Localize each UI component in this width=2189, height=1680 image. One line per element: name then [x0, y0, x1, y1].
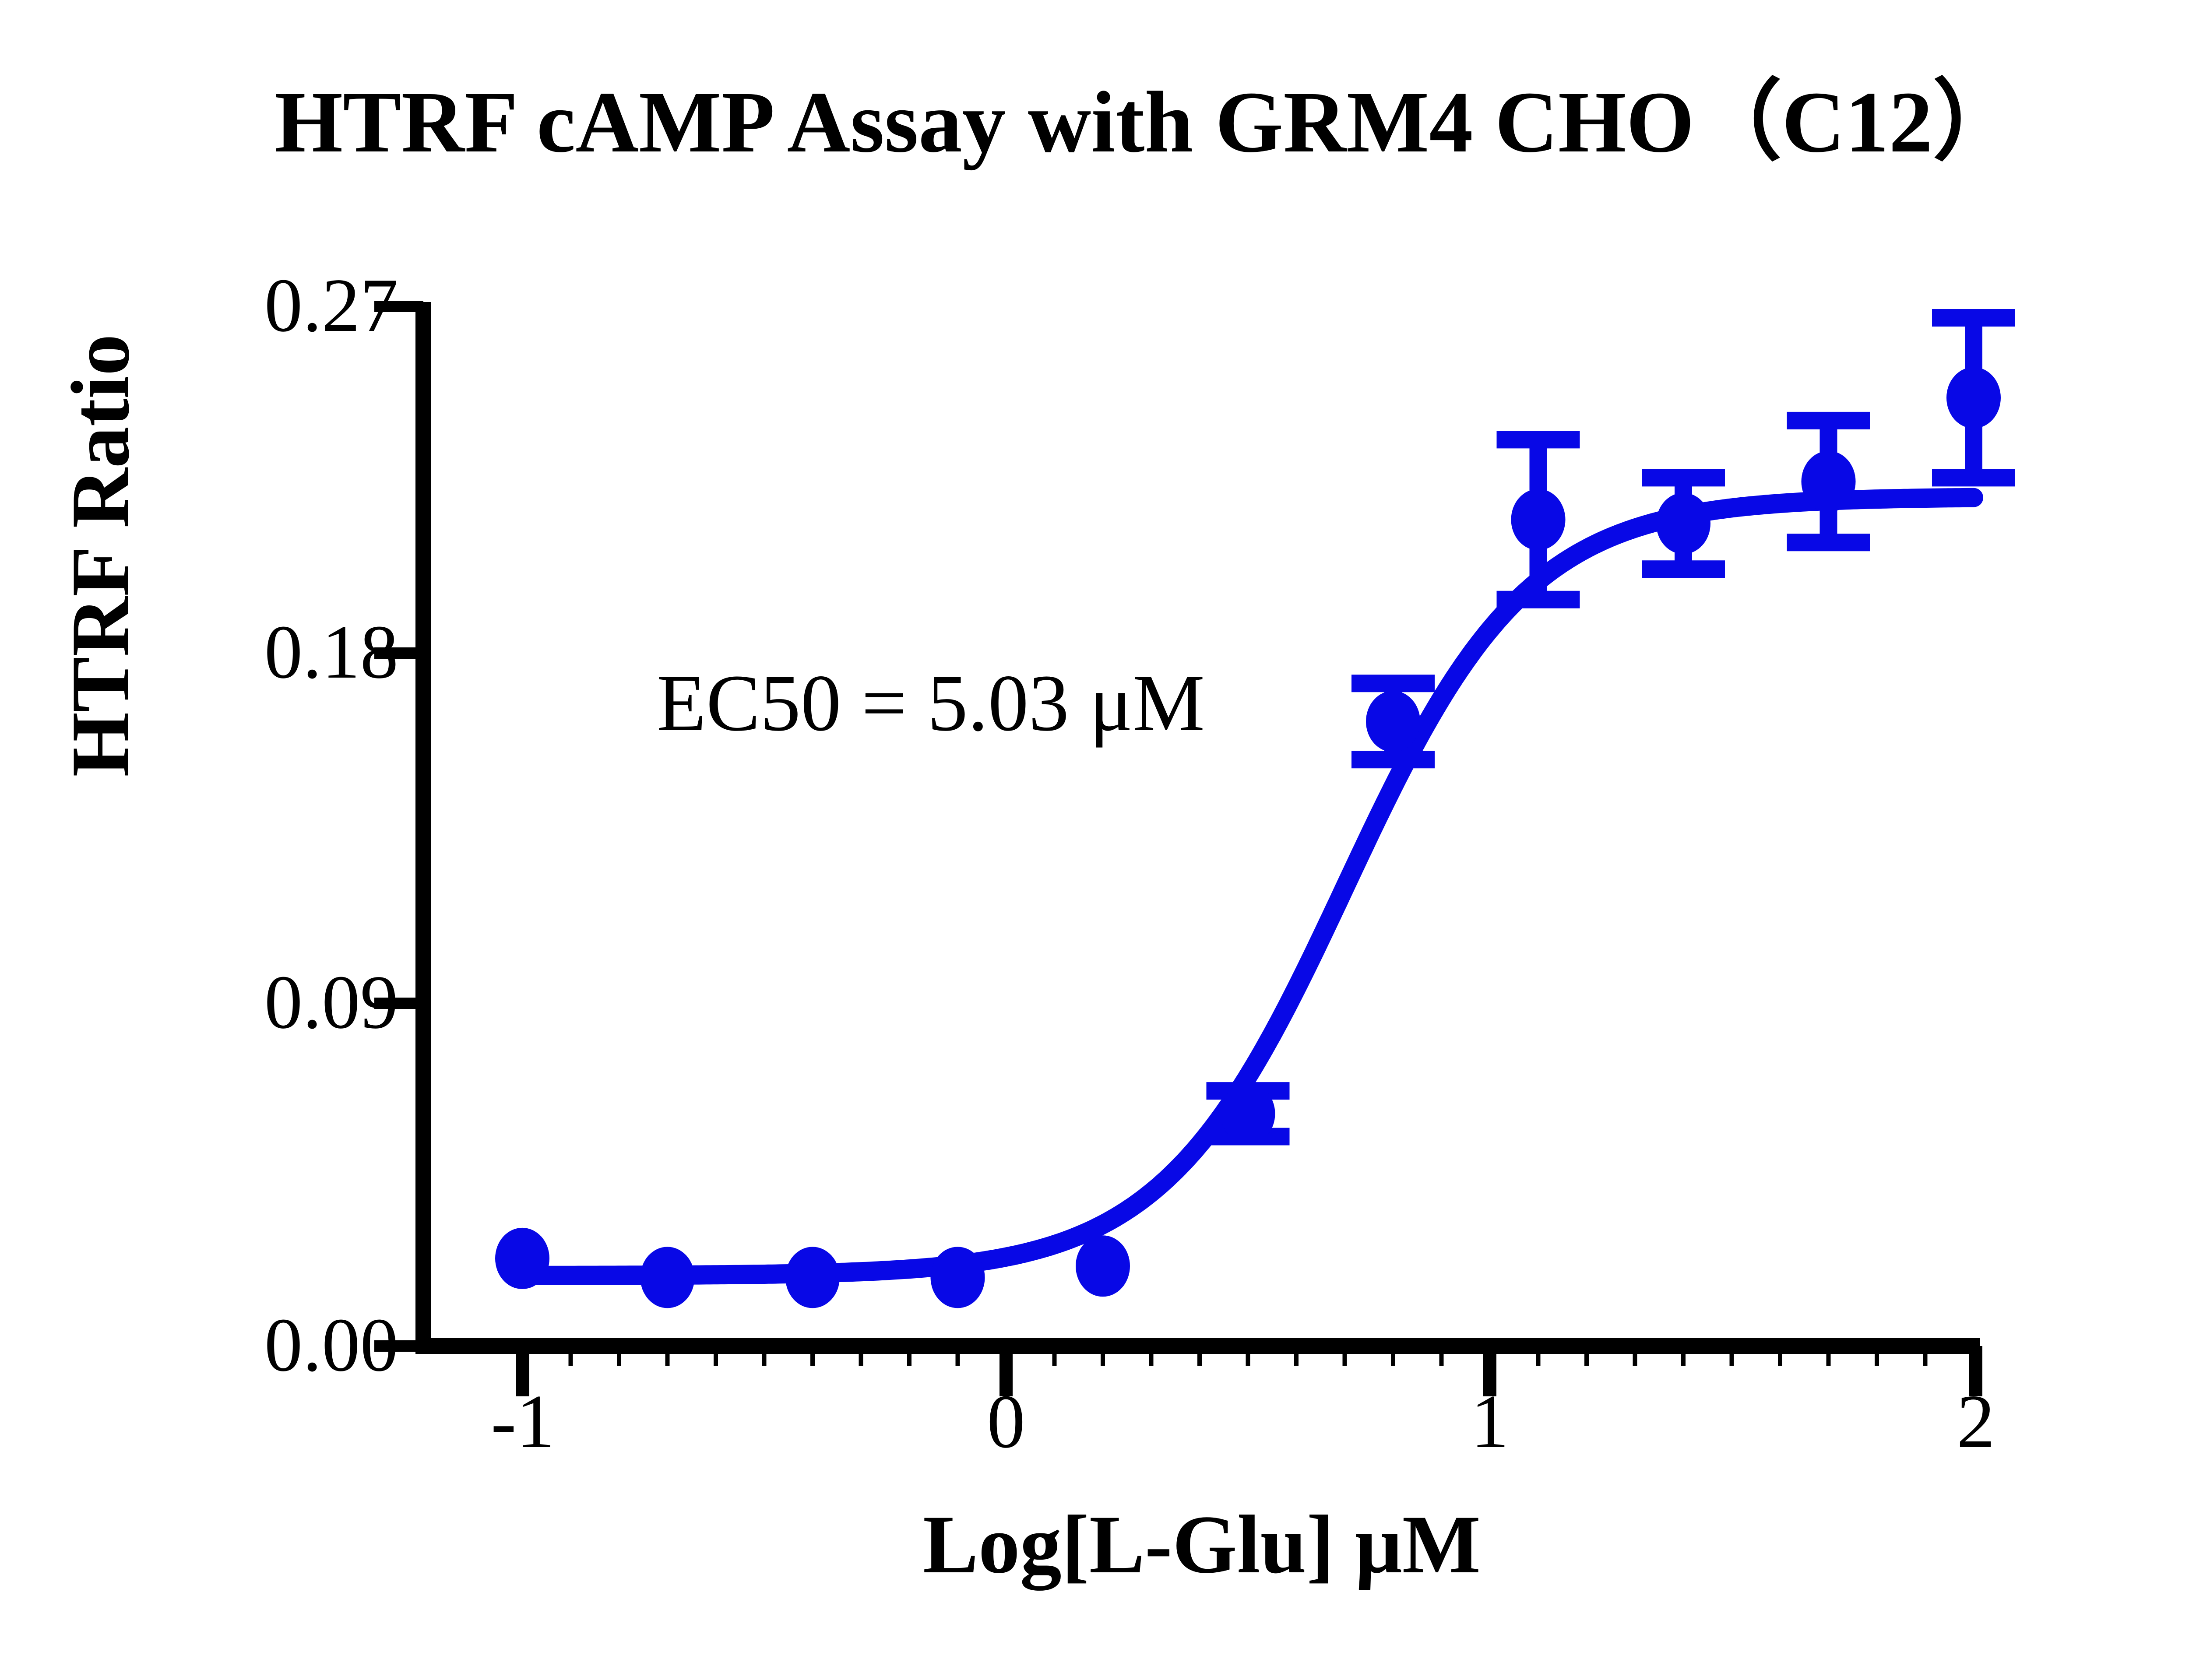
- data-point-marker: [785, 1247, 840, 1308]
- data-point-marker: [1946, 367, 2001, 429]
- data-point-marker: [931, 1247, 985, 1308]
- fit-curve: [513, 498, 1974, 1276]
- plot-canvas: [0, 0, 2189, 1680]
- data-point-marker: [1221, 1083, 1275, 1144]
- axis-lines: [374, 302, 1980, 1396]
- data-point-marker: [1656, 493, 1710, 554]
- data-point-marker: [1366, 691, 1420, 752]
- data-point-marker: [641, 1247, 695, 1308]
- data-point-marker: [1511, 489, 1566, 550]
- data-point-marker: [1802, 451, 1856, 512]
- data-point-marker: [1076, 1235, 1130, 1297]
- chart-figure: HTRF cAMP Assay with GRM4 CHO（C12） HTRF …: [0, 0, 2189, 1680]
- error-bars: [1207, 318, 2016, 1137]
- data-point-marker: [495, 1228, 549, 1289]
